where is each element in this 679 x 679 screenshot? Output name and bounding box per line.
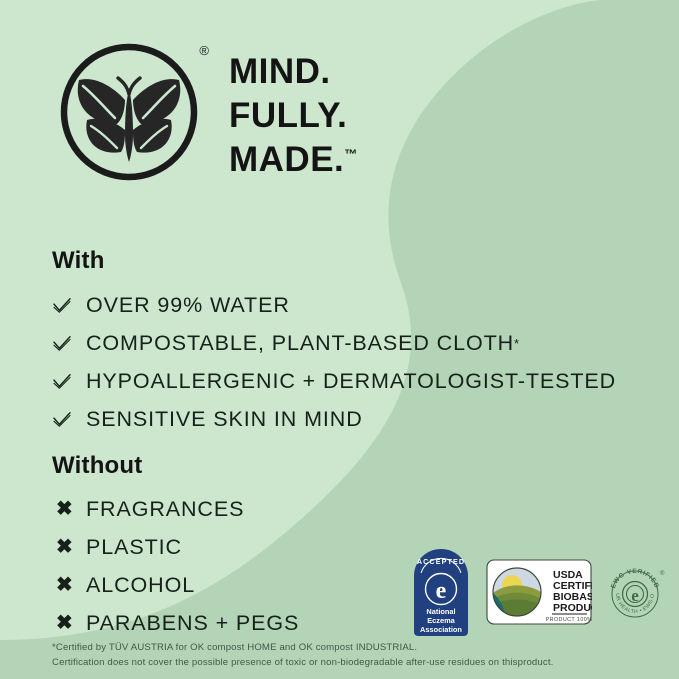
footnote-line-2: Certification does not cover the possibl… xyxy=(52,656,652,671)
without-section-heading: Without xyxy=(52,452,142,480)
registered-trademark-icon: ® xyxy=(199,44,209,57)
list-item: SENSITIVE SKIN IN MIND xyxy=(52,400,616,438)
list-item: OVER 99% WATER xyxy=(52,286,616,324)
wordmark-line-2: FULLY. xyxy=(229,94,357,138)
usda-line-4: PRODUCT xyxy=(553,602,592,614)
list-item-label: SENSITIVE SKIN IN MIND xyxy=(86,407,363,432)
butterfly-in-circle-icon xyxy=(55,38,203,186)
cross-glyph: ✖ xyxy=(56,537,73,557)
wordmark-line-1: MIND. xyxy=(229,50,357,94)
national-eczema-association-badge: ACCEPTED e National Eczema Association xyxy=(408,546,474,638)
list-item: ✖ FRAGRANCES xyxy=(52,490,299,528)
product-claims-infographic: ® MIND. FULLY. MADE.™ With OVER 99% WATE… xyxy=(0,0,679,679)
nea-emblem-letter: e xyxy=(436,578,447,604)
ewg-registered-mark: ® xyxy=(660,570,665,577)
usda-certified-biobased-product-badge: USDA CERTIFIED BIOBASED PRODUCT PRODUCT … xyxy=(486,559,592,625)
cross-glyph: ✖ xyxy=(56,499,73,519)
cross-icon: ✖ xyxy=(52,575,86,595)
list-item-label: OVER 99% WATER xyxy=(86,293,290,318)
check-icon xyxy=(52,411,86,427)
brand-wordmark: MIND. FULLY. MADE.™ xyxy=(229,50,357,182)
certification-badges-row: ACCEPTED e National Eczema Association U… xyxy=(408,546,666,638)
list-item: ✖ PLASTIC xyxy=(52,528,299,566)
with-section-heading: With xyxy=(52,247,105,275)
list-item-label: ALCOHOL xyxy=(86,573,195,598)
nea-line-1: National xyxy=(426,607,455,616)
usda-sub-line: PRODUCT 100% xyxy=(546,617,592,623)
check-icon xyxy=(52,373,86,389)
wordmark-line-3-text: MADE. xyxy=(229,140,344,179)
ewg-verified-badge: EWG VERIFIED YOUR HEALTH • EWG.ORG e ® xyxy=(604,561,666,623)
footnote-line-1: *Certified by TÜV AUSTRIA for OK compost… xyxy=(52,641,652,656)
list-item: ✖ ALCOHOL xyxy=(52,566,299,604)
cross-icon: ✖ xyxy=(52,613,86,633)
list-item: HYPOALLERGENIC + DERMATOLOGIST-TESTED xyxy=(52,362,616,400)
with-claims-list: OVER 99% WATER COMPOSTABLE, PLANT-BASED … xyxy=(52,286,616,438)
without-claims-list: ✖ FRAGRANCES ✖ PLASTIC ✖ ALCOHOL ✖ PARAB… xyxy=(52,490,299,642)
cross-icon: ✖ xyxy=(52,537,86,557)
footnote-disclaimer: *Certified by TÜV AUSTRIA for OK compost… xyxy=(52,641,652,671)
nea-line-2: Eczema xyxy=(427,616,455,625)
logo-mark-wrapper: ® xyxy=(55,38,203,186)
ewg-emblem-letter: e xyxy=(631,586,639,605)
trademark-icon: ™ xyxy=(344,147,357,162)
check-icon xyxy=(52,335,86,351)
nea-line-3: Association xyxy=(420,625,462,634)
cross-glyph: ✖ xyxy=(56,575,73,595)
list-item-label: HYPOALLERGENIC + DERMATOLOGIST-TESTED xyxy=(86,369,616,394)
list-item-label: PLASTIC xyxy=(86,535,182,560)
list-item: ✖ PARABENS + PEGS xyxy=(52,604,299,642)
list-item-label: FRAGRANCES xyxy=(86,497,244,522)
brand-logo-block: ® MIND. FULLY. MADE.™ xyxy=(55,38,357,186)
list-item: COMPOSTABLE, PLANT-BASED CLOTH * xyxy=(52,324,616,362)
footnote-marker: * xyxy=(514,336,519,351)
cross-glyph: ✖ xyxy=(56,613,73,633)
wordmark-line-3: MADE.™ xyxy=(229,138,357,182)
check-icon xyxy=(52,297,86,313)
cross-icon: ✖ xyxy=(52,499,86,519)
list-item-label: COMPOSTABLE, PLANT-BASED CLOTH xyxy=(86,331,514,356)
nea-accepted-arc-text: ACCEPTED xyxy=(417,557,465,566)
list-item-label: PARABENS + PEGS xyxy=(86,611,299,636)
